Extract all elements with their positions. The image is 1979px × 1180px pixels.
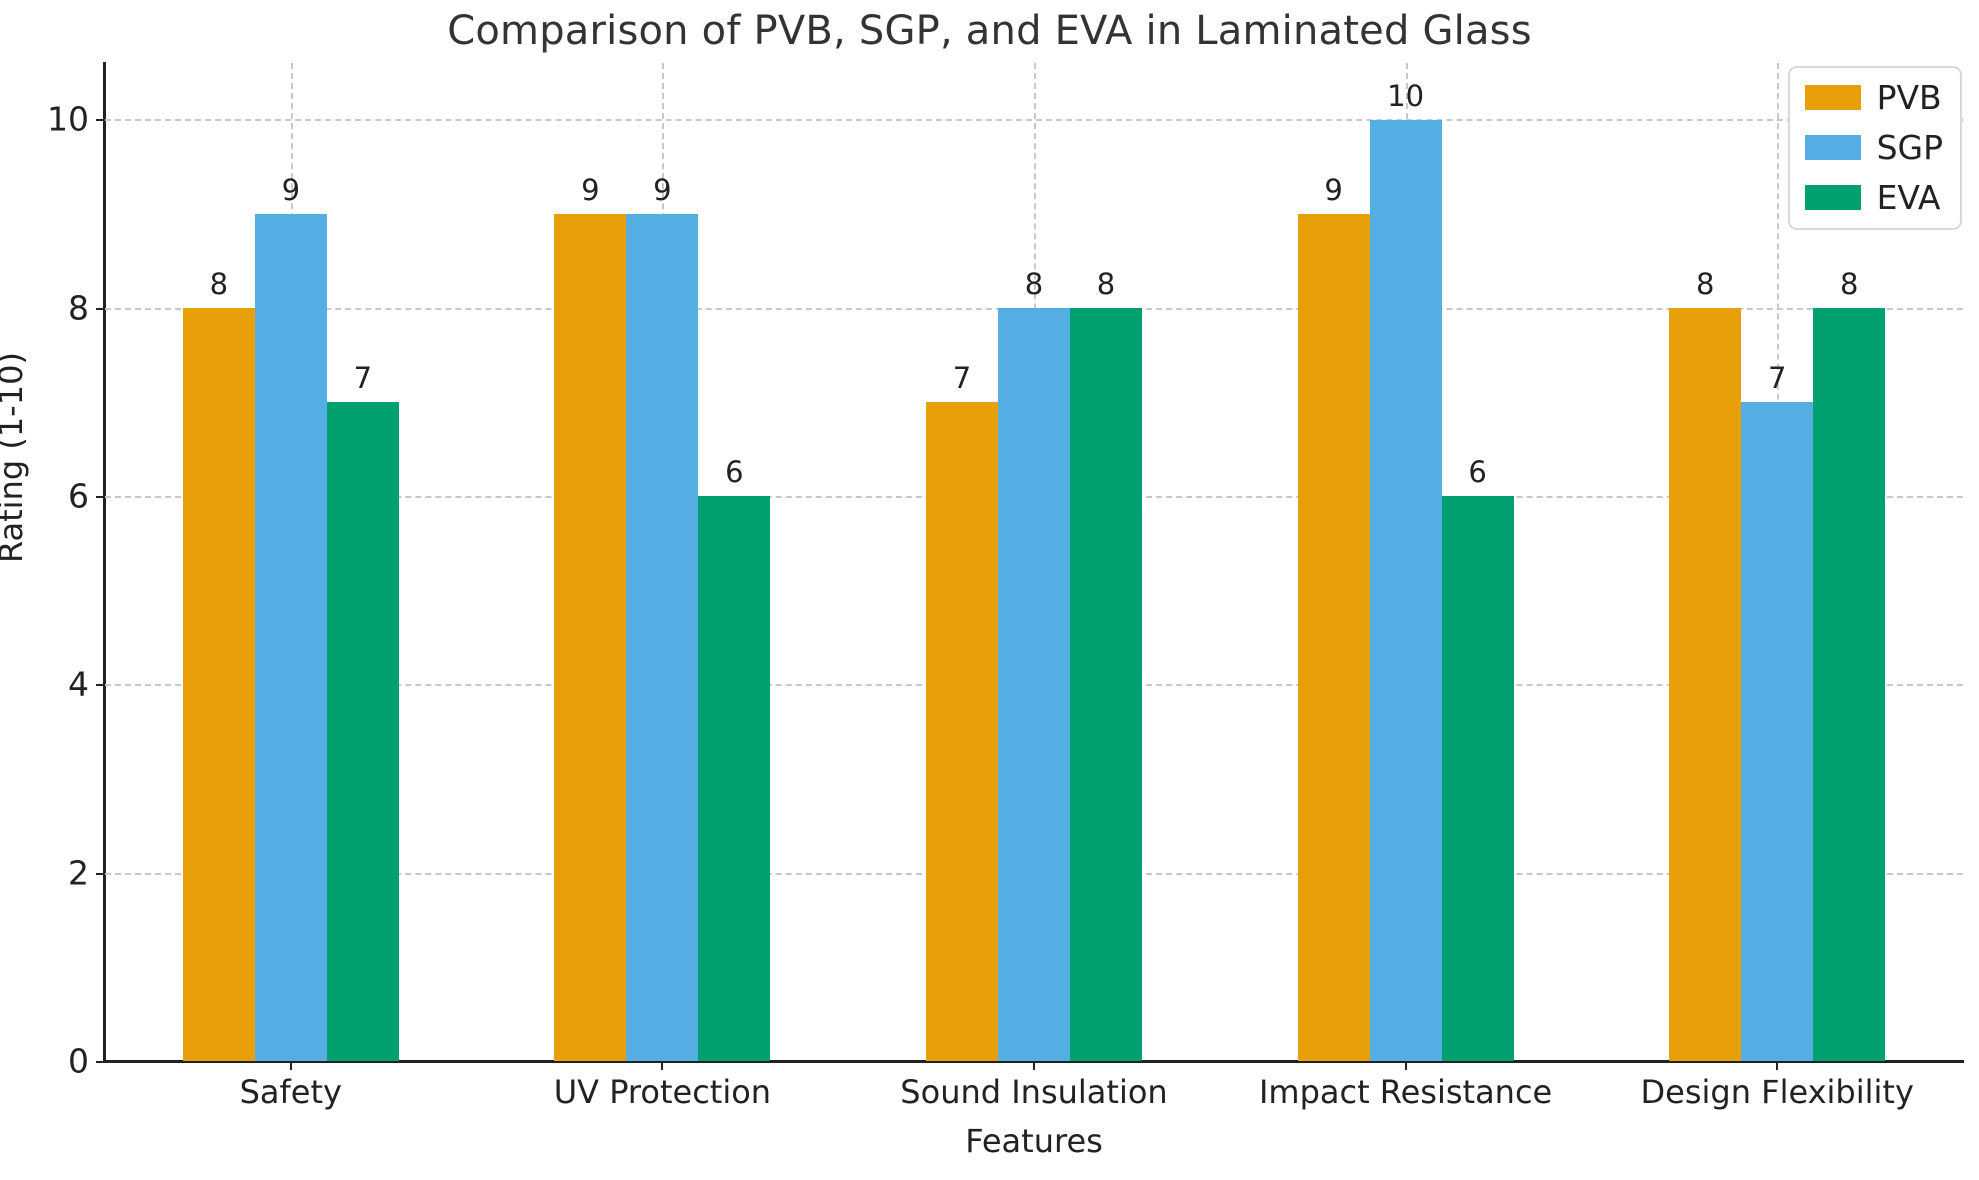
bar-value-label: 9 xyxy=(653,173,671,207)
bar-sgp-safety[interactable]: 9 xyxy=(255,214,327,1061)
bar-value-label: 7 xyxy=(953,361,971,395)
legend-label-sgp: SGP xyxy=(1877,131,1943,164)
x-tick-label-uv-protection: UV Protection xyxy=(554,1073,771,1111)
bar-value-label: 6 xyxy=(1468,455,1486,489)
bar-pvb-sound-insulation[interactable]: 7 xyxy=(926,402,998,1061)
x-tick-label-impact-resistance: Impact Resistance xyxy=(1259,1073,1552,1111)
y-tick-label: 6 xyxy=(68,477,89,516)
legend: PVB SGP EVA xyxy=(1788,66,1962,230)
legend-item-eva[interactable]: EVA xyxy=(1805,181,1943,214)
bar-eva-uv-protection[interactable]: 6 xyxy=(698,496,770,1061)
bar-value-label: 7 xyxy=(354,361,372,395)
bar-value-label: 8 xyxy=(1097,267,1115,301)
legend-label-pvb: PVB xyxy=(1877,81,1942,114)
bar-pvb-impact-resistance[interactable]: 9 xyxy=(1298,214,1370,1061)
legend-item-pvb[interactable]: PVB xyxy=(1805,81,1943,114)
y-tick-mark xyxy=(96,1061,105,1063)
bar-eva-design-flexibility[interactable]: 8 xyxy=(1813,308,1885,1061)
y-axis-title: Rating (1-10) xyxy=(0,352,30,563)
x-tick-label-design-flexibility: Design Flexibility xyxy=(1641,1073,1914,1111)
plot-area: 02468108979967889106878 xyxy=(105,63,1963,1061)
x-tick-mark xyxy=(290,1061,292,1070)
y-tick-label: 0 xyxy=(68,1042,89,1081)
bar-sgp-impact-resistance[interactable]: 10 xyxy=(1370,120,1442,1062)
x-axis-title: Features xyxy=(105,1122,1963,1160)
figure-canvas: Comparison of PVB, SGP, and EVA in Lamin… xyxy=(0,0,1979,1180)
y-tick-mark xyxy=(96,496,105,498)
x-tick-mark xyxy=(661,1061,663,1070)
bar-sgp-sound-insulation[interactable]: 8 xyxy=(998,308,1070,1061)
bar-sgp-uv-protection[interactable]: 9 xyxy=(626,214,698,1061)
bar-eva-sound-insulation[interactable]: 8 xyxy=(1070,308,1142,1061)
bar-value-label: 8 xyxy=(210,267,228,301)
bar-eva-safety[interactable]: 7 xyxy=(327,402,399,1061)
x-tick-mark xyxy=(1033,1061,1035,1070)
y-tick-mark xyxy=(96,684,105,686)
bar-value-label: 9 xyxy=(1324,173,1342,207)
y-tick-mark xyxy=(96,308,105,310)
legend-swatch-eva xyxy=(1805,185,1861,210)
x-tick-mark xyxy=(1405,1061,1407,1070)
y-tick-label: 4 xyxy=(68,665,89,704)
bar-value-label: 8 xyxy=(1025,267,1043,301)
legend-swatch-sgp xyxy=(1805,135,1861,160)
bar-value-label: 10 xyxy=(1387,79,1424,113)
legend-swatch-pvb xyxy=(1805,85,1861,110)
bar-eva-impact-resistance[interactable]: 6 xyxy=(1442,496,1514,1061)
bar-pvb-uv-protection[interactable]: 9 xyxy=(554,214,626,1061)
bar-pvb-design-flexibility[interactable]: 8 xyxy=(1669,308,1741,1061)
bar-sgp-design-flexibility[interactable]: 7 xyxy=(1741,402,1813,1061)
bar-value-label: 9 xyxy=(282,173,300,207)
x-tick-mark xyxy=(1776,1061,1778,1070)
legend-label-eva: EVA xyxy=(1877,181,1941,214)
bar-value-label: 8 xyxy=(1696,267,1714,301)
page-title: Comparison of PVB, SGP, and EVA in Lamin… xyxy=(0,8,1979,54)
bar-value-label: 7 xyxy=(1768,361,1786,395)
bar-pvb-safety[interactable]: 8 xyxy=(183,308,255,1061)
y-tick-label: 8 xyxy=(68,288,89,327)
legend-item-sgp[interactable]: SGP xyxy=(1805,131,1943,164)
bar-value-label: 9 xyxy=(581,173,599,207)
y-tick-label: 10 xyxy=(47,100,89,139)
bar-value-label: 8 xyxy=(1840,267,1858,301)
y-tick-mark xyxy=(96,873,105,875)
x-tick-label-safety: Safety xyxy=(240,1073,342,1111)
y-tick-label: 2 xyxy=(68,853,89,892)
y-tick-mark xyxy=(96,119,105,121)
bar-value-label: 6 xyxy=(725,455,743,489)
x-tick-label-sound-insulation: Sound Insulation xyxy=(900,1073,1167,1111)
